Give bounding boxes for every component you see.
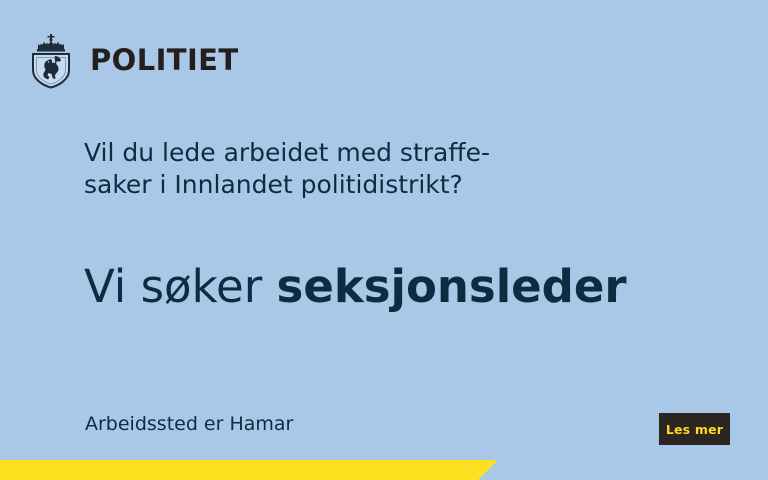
norwegian-coat-of-arms-icon (26, 31, 76, 89)
lead-line-1: Vil du lede arbeidet med straffe- (84, 137, 644, 169)
politiet-logo-lockup[interactable]: POLITIET (26, 30, 239, 90)
politiet-wordmark: POLITIET (90, 46, 239, 75)
lead-question: Vil du lede arbeidet med straffe- saker … (84, 137, 644, 201)
yellow-accent-band (0, 460, 500, 480)
headline: Vi søker seksjonsleder (84, 262, 724, 312)
lead-line-2: saker i Innlandet politidistrikt? (84, 169, 644, 201)
les-mer-button[interactable]: Les mer (659, 413, 730, 445)
headline-strong-part: seksjonsleder (277, 260, 627, 313)
workplace-location: Arbeidssted er Hamar (85, 413, 293, 436)
recruitment-banner: POLITIET Vil du lede arbeidet med straff… (0, 0, 768, 480)
headline-light-part: Vi søker (84, 260, 277, 313)
